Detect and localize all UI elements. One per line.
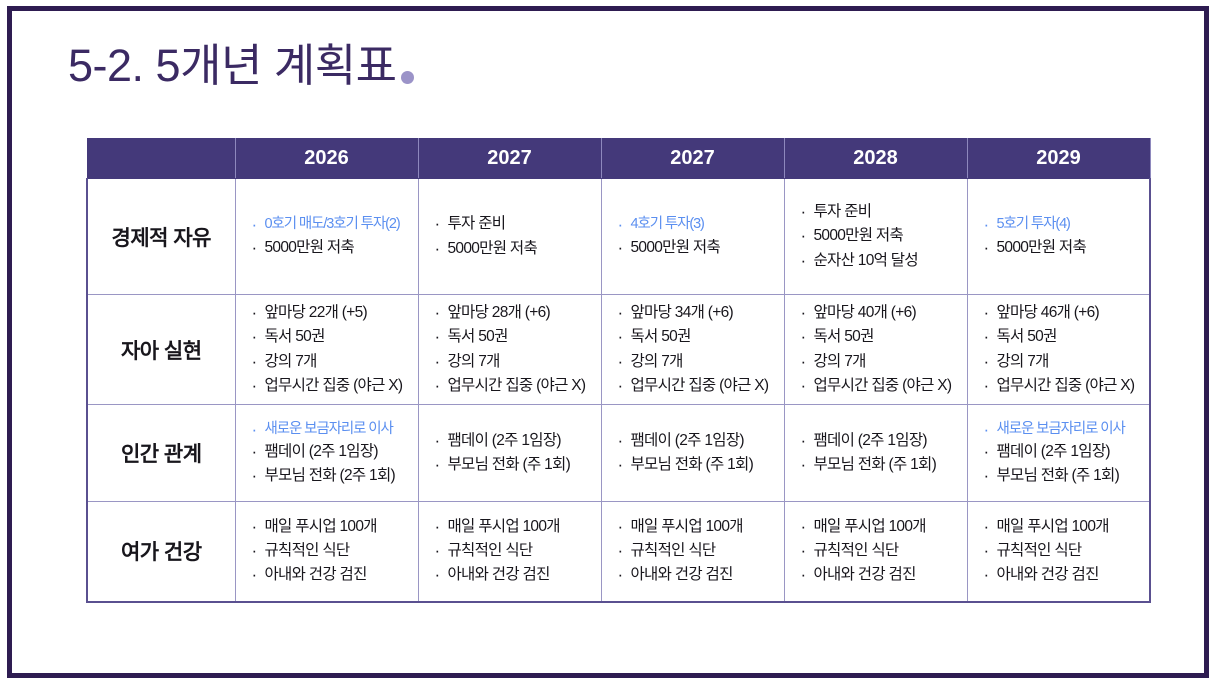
bullet-item: 규칙적인 식단 (984, 539, 1140, 563)
table-cell: 투자 준비5000만원 저축 (418, 179, 601, 295)
cell-bullet-list: 투자 준비5000만원 저축 (419, 212, 601, 260)
bullet-item: 4호기 투자(3) (618, 213, 774, 235)
row-label-3: 인간 관계 (87, 405, 235, 502)
bullet-item: 업무시간 집중 (야근 X) (984, 374, 1140, 398)
table-cell: 새로운 보금자리로 이사팸데이 (2주 1임장)부모님 전화 (주 1회) (967, 405, 1150, 502)
bullet-item: 독서 50권 (984, 325, 1140, 349)
table-cell: 앞마당 46개 (+6)독서 50권강의 7개업무시간 집중 (야근 X) (967, 295, 1150, 405)
slide-title-block: 5-2. 5개년 계획표 (68, 43, 414, 88)
bullet-item: 5000만원 저축 (618, 236, 774, 260)
bullet-item: 투자 준비 (435, 212, 591, 236)
cell-bullet-list: 매일 푸시업 100개규칙적인 식단아내와 건강 검진 (419, 515, 601, 587)
table-cell: 매일 푸시업 100개규칙적인 식단아내와 건강 검진 (418, 502, 601, 602)
bullet-item: 강의 7개 (801, 350, 957, 374)
bullet-item: 매일 푸시업 100개 (252, 515, 408, 539)
bullet-item: 강의 7개 (984, 350, 1140, 374)
bullet-item: 강의 7개 (618, 350, 774, 374)
table-cell: 매일 푸시업 100개규칙적인 식단아내와 건강 검진 (235, 502, 418, 602)
bullet-item: 앞마당 46개 (+6) (984, 301, 1140, 325)
bullet-item: 아내와 건강 검진 (618, 563, 774, 587)
cell-bullet-list: 매일 푸시업 100개규칙적인 식단아내와 건강 검진 (785, 515, 967, 587)
bullet-item: 아내와 건강 검진 (801, 563, 957, 587)
table-cell: 팸데이 (2주 1임장)부모님 전화 (주 1회) (418, 405, 601, 502)
bullet-item: 5000만원 저축 (435, 237, 591, 261)
cell-bullet-list: 팸데이 (2주 1임장)부모님 전화 (주 1회) (419, 429, 601, 477)
table-header-row: 2026 2027 2027 2028 2029 (87, 139, 1150, 179)
cell-bullet-list: 매일 푸시업 100개규칙적인 식단아내와 건강 검진 (236, 515, 418, 587)
bullet-item: 규칙적인 식단 (252, 539, 408, 563)
bullet-item: 팸데이 (2주 1임장) (801, 429, 957, 453)
five-year-plan-table: 2026 2027 2027 2028 2029 경제적 자유0호기 매도/3호… (86, 138, 1151, 603)
table-cell: 4호기 투자(3)5000만원 저축 (601, 179, 784, 295)
page-title: 5-2. 5개년 계획표 (68, 43, 397, 88)
bullet-item: 5000만원 저축 (801, 224, 957, 248)
table-cell: 팸데이 (2주 1임장)부모님 전화 (주 1회) (601, 405, 784, 502)
bullet-item: 매일 푸시업 100개 (984, 515, 1140, 539)
table-cell: 앞마당 22개 (+5)독서 50권강의 7개업무시간 집중 (야근 X) (235, 295, 418, 405)
bullet-item: 업무시간 집중 (야근 X) (435, 374, 591, 398)
bullet-item: 5000만원 저축 (252, 236, 408, 260)
bullet-item: 독서 50권 (435, 325, 591, 349)
bullet-item: 업무시간 집중 (야근 X) (801, 374, 957, 398)
bullet-item: 규칙적인 식단 (618, 539, 774, 563)
table-cell: 0호기 매도/3호기 투자(2)5000만원 저축 (235, 179, 418, 295)
table-row: 인간 관계새로운 보금자리로 이사팸데이 (2주 1임장)부모님 전화 (2주 … (87, 405, 1150, 502)
cell-bullet-list: 앞마당 46개 (+6)독서 50권강의 7개업무시간 집중 (야근 X) (968, 301, 1150, 397)
table-cell: 매일 푸시업 100개규칙적인 식단아내와 건강 검진 (784, 502, 967, 602)
bullet-item: 앞마당 28개 (+6) (435, 301, 591, 325)
bullet-item: 0호기 매도/3호기 투자(2) (252, 213, 408, 235)
bullet-item: 부모님 전화 (2주 1회) (252, 464, 408, 488)
bullet-item: 팸데이 (2주 1임장) (618, 429, 774, 453)
row-label-2: 자아 실현 (87, 295, 235, 405)
bullet-item: 업무시간 집중 (야근 X) (252, 374, 408, 398)
bullet-item: 부모님 전화 (주 1회) (984, 464, 1140, 488)
bullet-item: 매일 푸시업 100개 (801, 515, 957, 539)
bullet-item: 앞마당 34개 (+6) (618, 301, 774, 325)
bullet-item: 독서 50권 (801, 325, 957, 349)
cell-bullet-list: 팸데이 (2주 1임장)부모님 전화 (주 1회) (602, 429, 784, 477)
bullet-item: 규칙적인 식단 (435, 539, 591, 563)
table-row: 자아 실현앞마당 22개 (+5)독서 50권강의 7개업무시간 집중 (야근 … (87, 295, 1150, 405)
column-header-year-4: 2028 (784, 139, 967, 179)
column-header-year-2: 2027 (418, 139, 601, 179)
bullet-item: 부모님 전화 (주 1회) (618, 453, 774, 477)
table-cell: 투자 준비5000만원 저축순자산 10억 달성 (784, 179, 967, 295)
table-cell: 매일 푸시업 100개규칙적인 식단아내와 건강 검진 (967, 502, 1150, 602)
cell-bullet-list: 앞마당 28개 (+6)독서 50권강의 7개업무시간 집중 (야근 X) (419, 301, 601, 397)
bullet-item: 아내와 건강 검진 (435, 563, 591, 587)
bullet-item: 앞마당 22개 (+5) (252, 301, 408, 325)
cell-bullet-list: 매일 푸시업 100개규칙적인 식단아내와 건강 검진 (968, 515, 1150, 587)
bullet-item: 매일 푸시업 100개 (618, 515, 774, 539)
bullet-item: 독서 50권 (618, 325, 774, 349)
bullet-item: 순자산 10억 달성 (801, 249, 957, 273)
bullet-item: 아내와 건강 검진 (252, 563, 408, 587)
bullet-item: 업무시간 집중 (야근 X) (618, 374, 774, 398)
table-cell: 앞마당 28개 (+6)독서 50권강의 7개업무시간 집중 (야근 X) (418, 295, 601, 405)
row-label-1: 경제적 자유 (87, 179, 235, 295)
table-row: 여가 건강매일 푸시업 100개규칙적인 식단아내와 건강 검진매일 푸시업 1… (87, 502, 1150, 602)
bullet-item: 부모님 전화 (주 1회) (435, 453, 591, 477)
title-accent-dot-icon (401, 71, 414, 84)
bullet-item: 아내와 건강 검진 (984, 563, 1140, 587)
cell-bullet-list: 0호기 매도/3호기 투자(2)5000만원 저축 (236, 213, 418, 259)
table-header: 2026 2027 2027 2028 2029 (87, 139, 1150, 179)
bullet-item: 팸데이 (2주 1임장) (435, 429, 591, 453)
cell-bullet-list: 팸데이 (2주 1임장)부모님 전화 (주 1회) (785, 429, 967, 477)
table-cell: 팸데이 (2주 1임장)부모님 전화 (주 1회) (784, 405, 967, 502)
bullet-item: 5000만원 저축 (984, 236, 1140, 260)
bullet-item: 투자 준비 (801, 200, 957, 224)
bullet-item: 팸데이 (2주 1임장) (252, 440, 408, 464)
cell-bullet-list: 투자 준비5000만원 저축순자산 10억 달성 (785, 200, 967, 272)
bullet-item: 앞마당 40개 (+6) (801, 301, 957, 325)
bullet-item: 독서 50권 (252, 325, 408, 349)
slide: 5-2. 5개년 계획표 2026 2027 2027 2028 2029 경제… (0, 0, 1216, 684)
cell-bullet-list: 새로운 보금자리로 이사팸데이 (2주 1임장)부모님 전화 (2주 1회) (236, 418, 418, 489)
cell-bullet-list: 매일 푸시업 100개규칙적인 식단아내와 건강 검진 (602, 515, 784, 587)
column-header-year-3: 2027 (601, 139, 784, 179)
cell-bullet-list: 4호기 투자(3)5000만원 저축 (602, 213, 784, 259)
bullet-item: 새로운 보금자리로 이사 (984, 418, 1140, 440)
bullet-item: 팸데이 (2주 1임장) (984, 440, 1140, 464)
cell-bullet-list: 앞마당 34개 (+6)독서 50권강의 7개업무시간 집중 (야근 X) (602, 301, 784, 397)
cell-bullet-list: 새로운 보금자리로 이사팸데이 (2주 1임장)부모님 전화 (주 1회) (968, 418, 1150, 489)
cell-bullet-list: 5호기 투자(4)5000만원 저축 (968, 213, 1150, 259)
row-label-4: 여가 건강 (87, 502, 235, 602)
table-cell: 앞마당 40개 (+6)독서 50권강의 7개업무시간 집중 (야근 X) (784, 295, 967, 405)
table-corner-header (87, 139, 235, 179)
table-cell: 5호기 투자(4)5000만원 저축 (967, 179, 1150, 295)
table-cell: 새로운 보금자리로 이사팸데이 (2주 1임장)부모님 전화 (2주 1회) (235, 405, 418, 502)
bullet-item: 새로운 보금자리로 이사 (252, 418, 408, 440)
bullet-item: 5호기 투자(4) (984, 213, 1140, 235)
table-cell: 매일 푸시업 100개규칙적인 식단아내와 건강 검진 (601, 502, 784, 602)
column-header-year-1: 2026 (235, 139, 418, 179)
bullet-item: 매일 푸시업 100개 (435, 515, 591, 539)
column-header-year-5: 2029 (967, 139, 1150, 179)
table-cell: 앞마당 34개 (+6)독서 50권강의 7개업무시간 집중 (야근 X) (601, 295, 784, 405)
table-body: 경제적 자유0호기 매도/3호기 투자(2)5000만원 저축투자 준비5000… (87, 179, 1150, 602)
bullet-item: 강의 7개 (252, 350, 408, 374)
table-row: 경제적 자유0호기 매도/3호기 투자(2)5000만원 저축투자 준비5000… (87, 179, 1150, 295)
cell-bullet-list: 앞마당 22개 (+5)독서 50권강의 7개업무시간 집중 (야근 X) (236, 301, 418, 397)
bullet-item: 강의 7개 (435, 350, 591, 374)
bullet-item: 규칙적인 식단 (801, 539, 957, 563)
cell-bullet-list: 앞마당 40개 (+6)독서 50권강의 7개업무시간 집중 (야근 X) (785, 301, 967, 397)
bullet-item: 부모님 전화 (주 1회) (801, 453, 957, 477)
